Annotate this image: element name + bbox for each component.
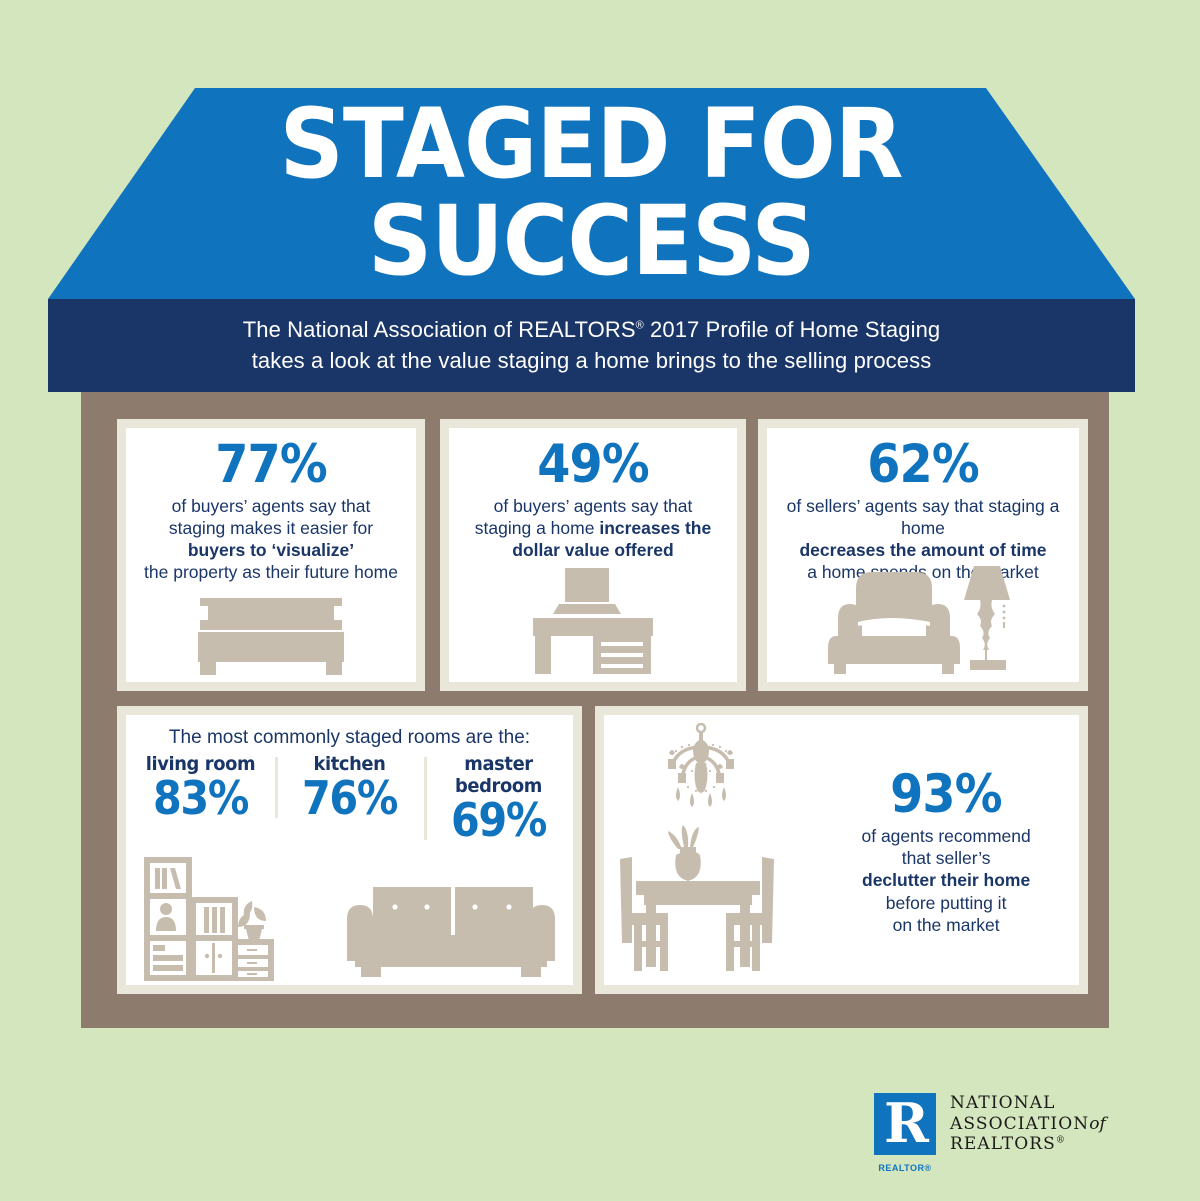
declutter-card-inner: 93% of agents recommend that seller’s de… [604, 715, 1079, 985]
stat-card-62: 62% of sellers’ agents say that staging … [758, 419, 1088, 691]
vase-plant [668, 825, 701, 881]
room-stat-master-bedroom: master bedroom 69% [424, 753, 573, 844]
blurb-bold: increases the [599, 518, 711, 538]
declutter-text: 93% of agents recommend that seller’s de… [827, 764, 1079, 935]
room-stat-living-room: living room 83% [126, 753, 275, 822]
stat-blurb-93: of agents recommend that seller’s declut… [827, 825, 1065, 935]
stat-card-77: 77% of buyers’ agents say that staging m… [117, 419, 425, 691]
dining-table-icon [610, 825, 785, 973]
stat-value-93: 93% [839, 768, 1053, 821]
room-icons-area [126, 833, 573, 981]
nar-line-2-suffix: of [1089, 1114, 1106, 1134]
declutter-card: 93% of agents recommend that seller’s de… [595, 706, 1088, 994]
blurb-line: of agents recommend [861, 826, 1030, 846]
roof-shape [48, 88, 1135, 299]
blurb-line: the property as their future home [144, 562, 398, 582]
blurb-line: staging a home [475, 518, 600, 538]
blurb-bold: dollar value offered [512, 540, 673, 560]
chandelier-icon [656, 723, 746, 815]
staged-rooms-card: The most commonly staged rooms are the: … [117, 706, 582, 994]
bed-icon [196, 598, 346, 676]
floor-lamp-icon [964, 566, 1010, 670]
blurb-bold: decreases the amount of time [799, 540, 1046, 560]
nar-registered-mark: ® [1056, 1136, 1066, 1146]
nar-line-3: REALTORS® [950, 1134, 1106, 1155]
room-value: 83% [137, 775, 264, 822]
desk-icon-area [449, 566, 737, 676]
nar-logo: R REALTOR® NATIONAL ASSOCIATIONof REALTO… [874, 1084, 1084, 1164]
subtitle-line-2: takes a look at the value staging a home… [252, 346, 932, 376]
stat-blurb-77: of buyers’ agents say that staging makes… [126, 495, 416, 583]
realtor-r-letter: R [874, 1093, 936, 1155]
nar-line-3-main: REALTORS [950, 1134, 1056, 1154]
nar-logo-text: NATIONAL ASSOCIATIONof REALTORS® [950, 1093, 1106, 1155]
desk-icon [531, 566, 655, 676]
infographic-canvas: STAGED FOR SUCCESS The National Associat… [0, 0, 1200, 1201]
stat-value-49: 49% [463, 438, 722, 491]
stat-blurb-49: of buyers’ agents say that staging a hom… [449, 495, 737, 561]
room-label: master bedroom [432, 753, 565, 797]
nar-line-1: NATIONAL [950, 1093, 1106, 1114]
stat-card-77-text: 77% of buyers’ agents say that staging m… [126, 428, 416, 583]
realtor-mark-word: REALTOR® [874, 1163, 936, 1173]
declutter-layout: 93% of agents recommend that seller’s de… [604, 715, 1079, 985]
stat-card-62-text: 62% of sellers’ agents say that staging … [767, 428, 1079, 583]
armchair-lamp-icon-area [767, 564, 1079, 676]
chair-left [620, 857, 668, 971]
realtor-mark-icon: R REALTOR® [874, 1093, 936, 1155]
bed-icon-area [126, 598, 416, 676]
blurb-line: staging makes it easier for [169, 518, 373, 538]
blurb-line: that seller’s [902, 848, 991, 868]
bookshelf-icon [144, 857, 274, 981]
declutter-icons [604, 715, 827, 985]
stat-card-49-inner: 49% of buyers’ agents say that staging a… [449, 428, 737, 682]
nar-line-2-main: ASSOCIATION [950, 1114, 1089, 1134]
staged-rooms-row: living room 83% kitchen 76% master bedro… [126, 753, 573, 844]
subtitle-text-b: 2017 Profile of Home Staging [644, 317, 940, 342]
subtitle-band: The National Association of REALTORS® 20… [48, 299, 1135, 392]
staged-rooms-heading: The most commonly staged rooms are the: [126, 715, 573, 749]
room-stat-kitchen: kitchen 76% [275, 753, 424, 822]
blurb-line: before putting it [886, 893, 1007, 913]
stat-value-77: 77% [141, 438, 402, 491]
subtitle-line-1: The National Association of REALTORS® 20… [243, 315, 941, 345]
blurb-line: of buyers’ agents say that [172, 496, 371, 516]
stat-value-62: 62% [783, 438, 1064, 491]
registered-mark: ® [636, 320, 644, 332]
nar-line-2: ASSOCIATIONof [950, 1114, 1106, 1135]
stat-card-62-inner: 62% of sellers’ agents say that staging … [767, 428, 1079, 682]
room-value: 76% [286, 775, 413, 822]
stat-card-49-text: 49% of buyers’ agents say that staging a… [449, 428, 737, 561]
stat-card-49: 49% of buyers’ agents say that staging a… [440, 419, 746, 691]
blurb-line: of sellers’ agents say that staging a ho… [787, 496, 1060, 538]
blurb-line: on the market [893, 915, 1000, 935]
blurb-line: of buyers’ agents say that [494, 496, 693, 516]
armchair-icon [828, 564, 1018, 676]
stat-card-77-inner: 77% of buyers’ agents say that staging m… [126, 428, 416, 682]
sofa-icon [347, 883, 555, 981]
blurb-bold: buyers to ‘visualize’ [188, 540, 354, 560]
subtitle-text-a: The National Association of REALTORS [243, 317, 636, 342]
blurb-bold: declutter their home [862, 870, 1030, 890]
staged-rooms-inner: The most commonly staged rooms are the: … [126, 715, 573, 985]
